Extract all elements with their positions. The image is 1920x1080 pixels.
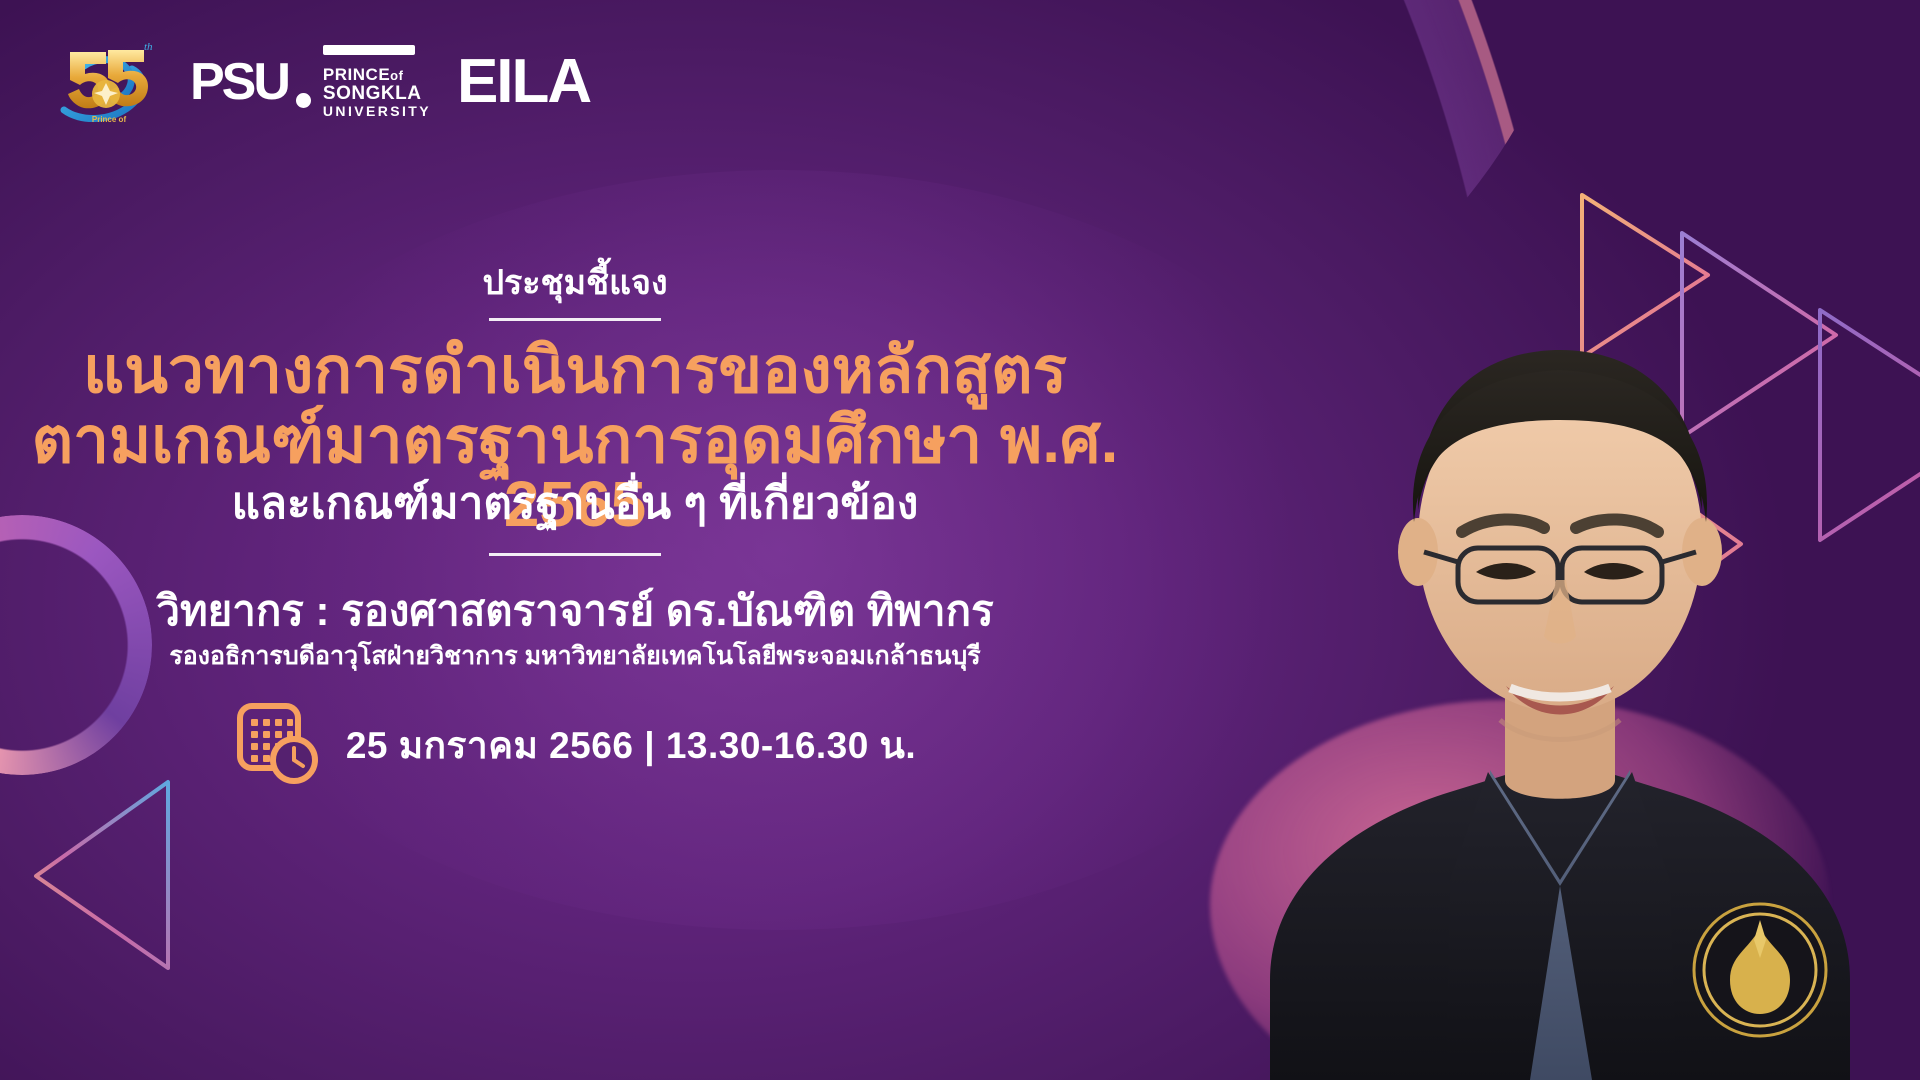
divider-bottom xyxy=(489,553,661,556)
speaker-affiliation: รองอธิการบดีอาวุโสฝ่ายวิชาการ มหาวิทยาลั… xyxy=(0,636,1150,676)
main-content: ประชุมชี้แจง แนวทางการดำเนินการของหลักสู… xyxy=(0,0,1150,1080)
page-title-line3: และเกณฑ์มาตรฐานอื่น ๆ ที่เกี่ยวข้อง xyxy=(0,482,1150,526)
speaker-portrait xyxy=(1200,180,1920,1080)
kicker-label: ประชุมชี้แจง xyxy=(0,255,1150,309)
event-datetime: 25 มกราคม 2566 | 13.30-16.30 น. xyxy=(346,716,916,775)
page-title-line1: แนวทางการดำเนินการของหลักสูตร xyxy=(0,338,1150,402)
event-poster: th Prince of PSU PRINCEof SONGKLA UNIVER… xyxy=(0,0,1920,1080)
speaker-name: วิทยากร : รองศาสตราจารย์ ดร.บัณฑิต ทิพาก… xyxy=(0,578,1150,644)
divider-top xyxy=(489,318,661,321)
datetime-row: 25 มกราคม 2566 | 13.30-16.30 น. xyxy=(0,700,1150,791)
calendar-clock-icon xyxy=(234,700,320,791)
